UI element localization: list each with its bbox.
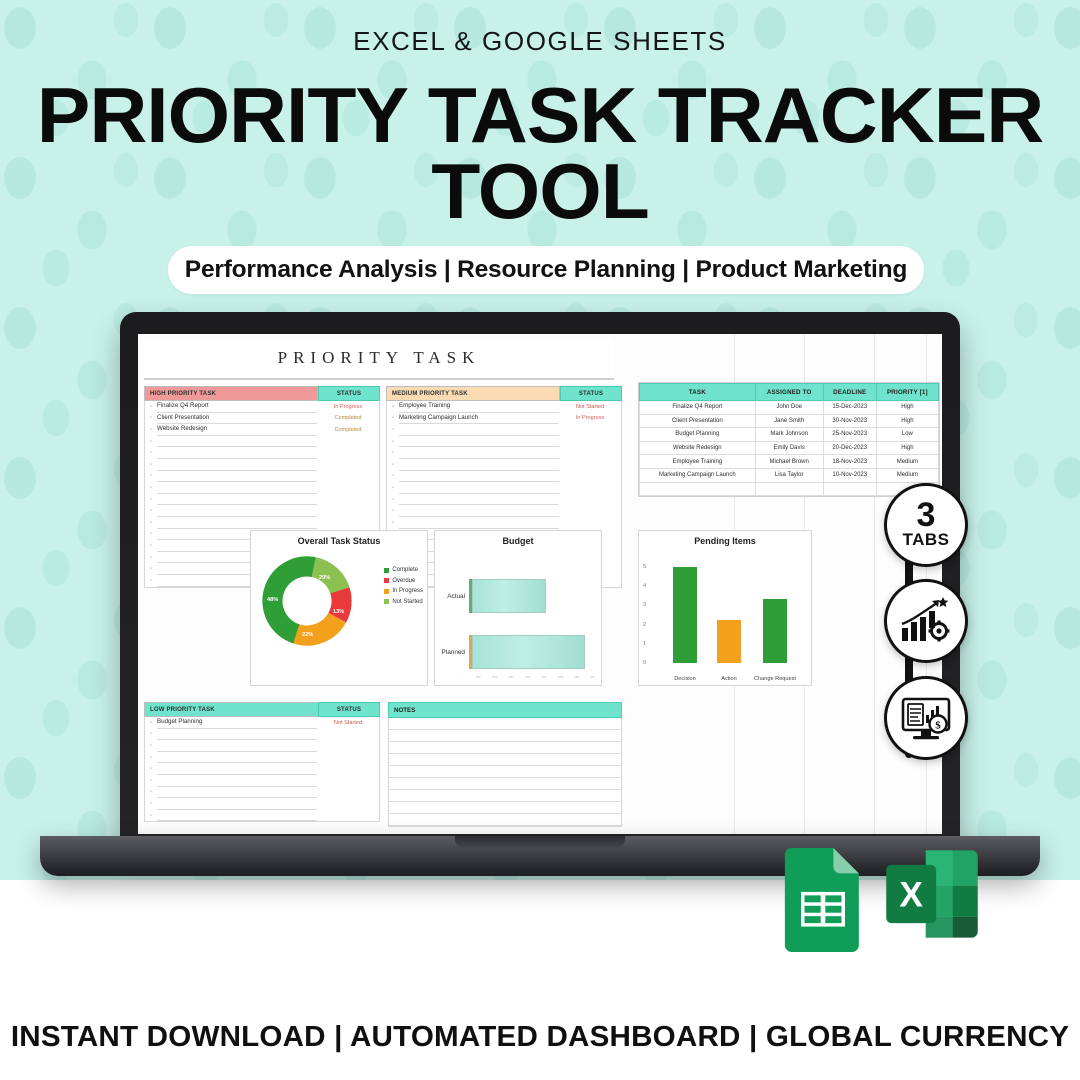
notes-line[interactable]: [389, 790, 621, 802]
notes-lines[interactable]: [388, 718, 622, 827]
task-name: [157, 763, 317, 775]
task-name: [399, 447, 559, 459]
table-row[interactable]: [640, 482, 939, 496]
row-bullet: ▫: [145, 555, 157, 561]
row-bullet: ▫: [145, 743, 157, 749]
task-name: [157, 436, 317, 448]
budget-chart-title: Budget: [435, 536, 601, 546]
laptop-lid: PRIORITY TASK HIGH PRIORITY TASK STATUS …: [120, 312, 960, 844]
table-cell: Low: [876, 428, 938, 442]
task-row[interactable]: ▫Budget PlanningNot Started: [145, 717, 379, 729]
notes-block: NOTES: [388, 702, 622, 827]
notes-line[interactable]: [389, 814, 621, 826]
row-bullet: ▫: [145, 731, 157, 737]
row-bullet: ▫: [145, 462, 157, 468]
table-cell: Client Presentation: [640, 414, 756, 428]
notes-line[interactable]: [389, 766, 621, 778]
table-cell: High: [876, 414, 938, 428]
row-bullet: ▫: [145, 508, 157, 514]
task-row[interactable]: ▫: [387, 517, 621, 529]
task-row[interactable]: ▫: [145, 447, 379, 459]
eyebrow-text: EXCEL & GOOGLE SHEETS: [0, 26, 1080, 57]
pending-label-decision: Decision: [659, 676, 711, 682]
donut-legend-item: In Progress: [384, 588, 423, 594]
task-name: [399, 459, 559, 471]
notes-line[interactable]: [389, 778, 621, 790]
overall-task-status-chart[interactable]: Overall Task Status 20% 13% 22% 48%: [250, 530, 428, 686]
notes-line[interactable]: [389, 730, 621, 742]
legend-swatch: [384, 599, 389, 604]
table-row[interactable]: Budget PlanningMark Johnson25-Nov-2023Lo…: [640, 428, 939, 442]
subtitle-text: Performance Analysis | Resource Planning…: [185, 256, 907, 284]
overall-task-status-title: Overall Task Status: [251, 536, 427, 546]
footer-features: INSTANT DOWNLOAD | AUTOMATED DASHBOARD |…: [0, 1021, 1080, 1054]
task-row[interactable]: ▫: [145, 436, 379, 448]
low-priority-rows: ▫Budget PlanningNot Started▫▫▫▫▫▫▫▫: [144, 717, 380, 822]
task-row[interactable]: ▫: [145, 798, 379, 810]
table-cell: Jane Smith: [755, 414, 823, 428]
row-bullet: ▫: [387, 450, 399, 456]
legend-label: Overdue: [392, 578, 415, 584]
row-bullet: ▫: [387, 427, 399, 433]
row-bullet: ▫: [145, 404, 157, 410]
row-bullet: ▫: [387, 404, 399, 410]
task-name: Finalize Q4 Report: [157, 401, 317, 413]
row-bullet: ▫: [387, 462, 399, 468]
table-cell: Budget Planning: [640, 428, 756, 442]
badge-tabs-label: TABS: [902, 530, 949, 550]
task-row[interactable]: ▫: [145, 740, 379, 752]
row-bullet: ▫: [387, 415, 399, 421]
task-name: [399, 482, 559, 494]
task-name: [399, 494, 559, 506]
task-name: [157, 752, 317, 764]
task-name: [157, 787, 317, 799]
subtitle-pill: Performance Analysis | Resource Planning…: [168, 246, 924, 294]
row-bullet: ▫: [145, 813, 157, 819]
table-cell: 20-Dec-2023: [823, 441, 876, 455]
row-bullet: ▫: [145, 755, 157, 761]
task-name: [157, 517, 317, 529]
notes-line[interactable]: [389, 754, 621, 766]
donut-label-overdue: 13%: [333, 609, 344, 615]
row-bullet: ▫: [145, 789, 157, 795]
row-bullet: ▫: [145, 427, 157, 433]
google-sheets-logo: [782, 848, 864, 952]
task-row[interactable]: ▫: [387, 459, 621, 471]
pending-ytick: 3: [643, 602, 646, 608]
table-row[interactable]: Finalize Q4 ReportJohn Doe15-Dec-2023Hig…: [640, 401, 939, 415]
growth-chart-gear-icon: [899, 596, 953, 646]
row-bullet: ▫: [387, 497, 399, 503]
legend-swatch: [384, 568, 389, 573]
row-bullet: ▫: [145, 566, 157, 572]
medium-priority-header-status: STATUS: [560, 386, 622, 401]
row-bullet: ▫: [145, 578, 157, 584]
pending-label-change-request: Change Request: [751, 676, 799, 682]
low-priority-header-status: STATUS: [318, 702, 380, 717]
task-name: Budget Planning: [157, 717, 317, 729]
table-cell: Lisa Taylor: [755, 468, 823, 482]
table-cell: High: [876, 441, 938, 455]
table-cell: Website Redesign: [640, 441, 756, 455]
task-row[interactable]: ▫Marketing Campaign LaunchIn Progress: [387, 413, 621, 425]
task-name: [157, 447, 317, 459]
legend-swatch: [384, 578, 389, 583]
table-cell: [755, 482, 823, 496]
donut-label-notstarted: 20%: [319, 575, 330, 581]
task-table-column-header[interactable]: DEADLINE: [823, 384, 876, 401]
task-name: [157, 810, 317, 822]
budget-label-planned: Planned: [435, 649, 469, 656]
pending-bar-change-request: [763, 599, 787, 663]
donut-legend-item: Not Started: [384, 599, 423, 605]
task-name: Marketing Campaign Launch: [399, 413, 559, 425]
task-row[interactable]: ▫Client PresentationCompleted: [145, 413, 379, 425]
task-name: Client Presentation: [157, 413, 317, 425]
pending-ytick: 5: [643, 564, 646, 570]
row-bullet: ▫: [387, 485, 399, 491]
badge-tabs-number: 3: [917, 500, 936, 531]
pending-ytick: 1: [643, 641, 646, 647]
donut-legend-item: Complete: [384, 567, 423, 573]
svg-text:$: $: [935, 719, 941, 731]
task-name: [157, 775, 317, 787]
medium-priority-header-task: MEDIUM PRIORITY TASK: [386, 386, 560, 401]
table-row[interactable]: Website RedesignEmily Davis20-Dec-2023Hi…: [640, 441, 939, 455]
task-status: In Progress: [559, 415, 621, 421]
task-row[interactable]: ▫: [387, 482, 621, 494]
row-bullet: ▫: [145, 439, 157, 445]
laptop-notch: [455, 836, 625, 848]
svg-text:X: X: [899, 875, 923, 914]
low-priority-block: LOW PRIORITY TASK STATUS ▫Budget Plannin…: [144, 702, 380, 822]
task-row[interactable]: ▫: [145, 494, 379, 506]
badge-3-tabs: 3 TABS: [884, 483, 968, 567]
low-priority-header: LOW PRIORITY TASK STATUS: [144, 702, 380, 717]
table-cell: Emily Davis: [755, 441, 823, 455]
table-cell: 15-Dec-2023: [823, 401, 876, 415]
high-priority-header-task: HIGH PRIORITY TASK: [144, 386, 318, 401]
row-bullet: ▫: [387, 439, 399, 445]
table-row[interactable]: Marketing Campaign LaunchLisa Taylor10-N…: [640, 468, 939, 482]
high-priority-header-status: STATUS: [318, 386, 380, 401]
high-priority-header: HIGH PRIORITY TASK STATUS: [144, 386, 380, 401]
sheet-title: PRIORITY TASK: [144, 338, 614, 380]
table-cell: Medium: [876, 455, 938, 469]
page-title-line2: TOOL: [0, 154, 1080, 230]
donut-legend: CompleteOverdueIn ProgressNot Started: [384, 567, 423, 609]
notes-line[interactable]: [389, 802, 621, 814]
row-bullet: ▫: [145, 473, 157, 479]
row-bullet: ▫: [145, 531, 157, 537]
table-cell: Medium: [876, 468, 938, 482]
task-row[interactable]: ▫: [145, 763, 379, 775]
task-row[interactable]: ▫: [387, 494, 621, 506]
low-priority-header-task: LOW PRIORITY TASK: [144, 702, 318, 717]
badge-growth-chart: [884, 579, 968, 663]
task-name: Employee Training: [399, 401, 559, 413]
table-cell: Marketing Campaign Launch: [640, 468, 756, 482]
task-name: [157, 494, 317, 506]
notes-line[interactable]: [389, 718, 621, 730]
task-status: Not Started: [317, 720, 379, 726]
row-bullet: ▫: [145, 497, 157, 503]
row-bullet: ▫: [387, 508, 399, 514]
task-name: [157, 471, 317, 483]
excel-logo: X: [880, 842, 984, 946]
task-name: [157, 482, 317, 494]
task-row[interactable]: ▫: [145, 752, 379, 764]
budget-label-actual: Actual: [435, 593, 469, 600]
task-row[interactable]: ▫: [145, 810, 379, 822]
table-row[interactable]: Employee TrainingMichael Brown18-Nov-202…: [640, 455, 939, 469]
table-cell: [823, 482, 876, 496]
task-name: [157, 459, 317, 471]
table-cell: High: [876, 401, 938, 415]
task-row[interactable]: ▫Finalize Q4 ReportIn Progress: [145, 401, 379, 413]
spreadsheet-dashboard: PRIORITY TASK HIGH PRIORITY TASK STATUS …: [138, 334, 942, 834]
table-cell: Employee Training: [640, 455, 756, 469]
row-bullet: ▫: [145, 778, 157, 784]
pending-ytick: 2: [643, 622, 646, 628]
task-table-column-header[interactable]: ASSIGNED TO: [755, 384, 823, 401]
pending-bar-action: [717, 620, 741, 663]
row-bullet: ▫: [387, 473, 399, 479]
task-table-header-row: TASKASSIGNED TODEADLINEPRIORITY [1]: [640, 384, 939, 401]
task-table[interactable]: TASKASSIGNED TODEADLINEPRIORITY [1] Fina…: [638, 382, 940, 497]
task-table-body: Finalize Q4 ReportJohn Doe15-Dec-2023Hig…: [640, 401, 939, 496]
donut-legend-item: Overdue: [384, 578, 423, 584]
page-title: PRIORITY TASK TRACKER TOOL: [0, 78, 1080, 229]
task-name: [399, 424, 559, 436]
app-logos: X: [782, 842, 992, 950]
notes-line[interactable]: [389, 742, 621, 754]
badge-financial-report: $: [884, 676, 968, 760]
row-bullet: ▫: [145, 720, 157, 726]
task-name: Website Redesign: [157, 424, 317, 436]
sheet-title-text: PRIORITY TASK: [278, 348, 481, 368]
pending-items-title: Pending Items: [639, 536, 811, 546]
row-bullet: ▫: [145, 543, 157, 549]
row-bullet: ▫: [145, 415, 157, 421]
task-name: [157, 729, 317, 741]
table-cell: John Doe: [755, 401, 823, 415]
donut-label-inprogress: 22%: [302, 632, 313, 638]
table-cell: Mark Johnson: [755, 428, 823, 442]
pending-items-chart[interactable]: Pending Items 012345 Decision Action Cha…: [638, 530, 812, 686]
task-name: [399, 505, 559, 517]
laptop-screen: PRIORITY TASK HIGH PRIORITY TASK STATUS …: [138, 334, 942, 834]
task-row[interactable]: ▫: [387, 447, 621, 459]
budget-axis: -▪▪▪▪▪▪▪▪▪▪▪▪▪▪▪▪ ▪▪▪▪▪▪▪▪▪▪▪▪▪▪▪: [463, 675, 595, 679]
medium-priority-header: MEDIUM PRIORITY TASK STATUS: [386, 386, 622, 401]
row-bullet: ▫: [145, 485, 157, 491]
task-row[interactable]: ▫: [145, 471, 379, 483]
task-row[interactable]: ▫: [145, 775, 379, 787]
task-name: [157, 505, 317, 517]
row-bullet: ▫: [145, 520, 157, 526]
table-cell: [640, 482, 756, 496]
table-cell: 30-Nov-2023: [823, 414, 876, 428]
task-row[interactable]: ▫: [145, 729, 379, 741]
row-bullet: ▫: [145, 801, 157, 807]
budget-bar-planned: Planned: [435, 635, 595, 669]
task-status: Completed: [317, 427, 379, 433]
task-table-column-header[interactable]: PRIORITY [1]: [876, 384, 938, 401]
legend-label: Not Started: [392, 599, 422, 605]
task-row[interactable]: ▫: [145, 482, 379, 494]
pending-ytick: 4: [643, 583, 646, 589]
task-name: [157, 798, 317, 810]
row-bullet: ▫: [145, 766, 157, 772]
table-cell: 25-Nov-2023: [823, 428, 876, 442]
pending-bar-decision: [673, 567, 697, 663]
task-status: In Progress: [317, 404, 379, 410]
row-bullet: ▫: [145, 450, 157, 456]
task-row[interactable]: ▫: [145, 505, 379, 517]
row-bullet: ▫: [387, 520, 399, 526]
task-row[interactable]: ▫: [145, 459, 379, 471]
task-row[interactable]: ▫: [387, 436, 621, 448]
task-row[interactable]: ▫: [387, 505, 621, 517]
task-row[interactable]: ▫Employee TrainingNot Started: [387, 401, 621, 413]
task-row[interactable]: ▫Website RedesignCompleted: [145, 424, 379, 436]
task-row[interactable]: ▫: [387, 471, 621, 483]
task-status: Completed: [317, 415, 379, 421]
task-row[interactable]: ▫: [145, 787, 379, 799]
table-row[interactable]: Client PresentationJane Smith30-Nov-2023…: [640, 414, 939, 428]
legend-swatch: [384, 589, 389, 594]
task-row[interactable]: ▫: [145, 517, 379, 529]
legend-label: In Progress: [392, 588, 423, 594]
task-table-column-header[interactable]: TASK: [640, 384, 756, 401]
legend-label: Complete: [392, 567, 418, 573]
donut-graphic: 20% 13% 22% 48%: [259, 553, 355, 649]
task-status: Not Started: [559, 404, 621, 410]
budget-bar-actual: Actual: [435, 579, 595, 613]
table-cell: Michael Brown: [755, 455, 823, 469]
laptop-mockup: PRIORITY TASK HIGH PRIORITY TASK STATUS …: [112, 312, 968, 872]
budget-chart[interactable]: Budget Actual Planned -▪▪▪▪▪▪▪▪▪▪▪▪▪▪▪▪ …: [434, 530, 602, 686]
task-name: [399, 471, 559, 483]
notes-header: NOTES: [388, 702, 622, 718]
table-cell: 18-Nov-2023: [823, 455, 876, 469]
task-name: [399, 436, 559, 448]
task-row[interactable]: ▫: [387, 424, 621, 436]
pending-ytick: 0: [643, 660, 646, 666]
task-name: [157, 740, 317, 752]
financial-report-monitor-icon: $: [899, 693, 953, 743]
table-cell: 10-Nov-2023: [823, 468, 876, 482]
page-title-line1: PRIORITY TASK TRACKER: [0, 78, 1080, 154]
task-name: [399, 517, 559, 529]
table-cell: Finalize Q4 Report: [640, 401, 756, 415]
donut-label-complete: 48%: [267, 597, 278, 603]
pending-label-action: Action: [705, 676, 753, 682]
